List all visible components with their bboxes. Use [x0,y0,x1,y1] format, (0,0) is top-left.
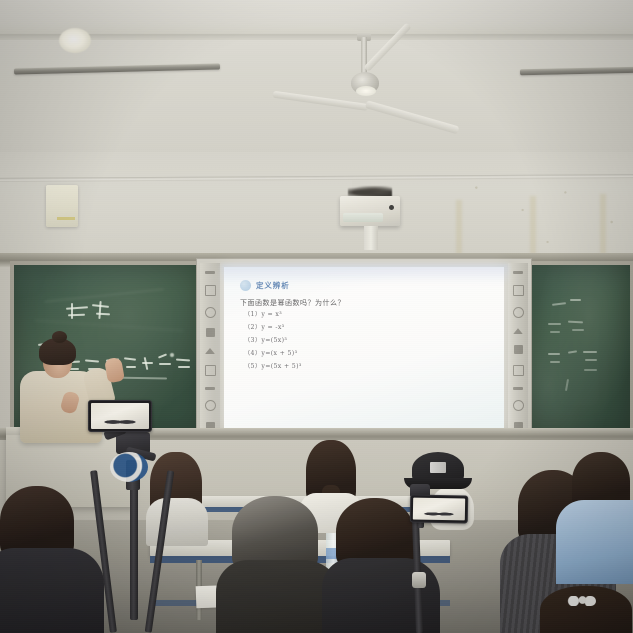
slide-equation-1: （1）y = x³ [244,309,488,318]
wall-stain [530,196,536,254]
select-icon[interactable] [205,365,216,376]
phone-screen [91,403,149,429]
interactive-board-left-controls[interactable] [200,263,220,435]
hair-clip [566,596,596,606]
fan-light-cover [356,86,376,96]
chalkboard-right [524,261,633,441]
teacher-hair-bun [52,331,67,343]
observer-shoulders [0,548,104,633]
menu-icon[interactable] [513,271,523,274]
observer-blue-shirt [556,500,633,584]
settings-icon[interactable] [513,400,524,411]
projection-screen: 定义辨析 下面函数是幂函数吗？为什么？ （1）y = x³ （2）y = -x³… [224,267,504,431]
pen-icon[interactable] [205,285,216,296]
list-item [540,586,632,633]
tripod-logo-badge [110,452,148,482]
wall-speaker-panel [46,185,78,227]
wall-scuff-marks [455,178,633,258]
slide-equation-2: （2）y = -x³ [244,322,488,331]
chalk-dust-haze [528,265,630,437]
select-icon[interactable] [513,365,524,376]
undo-icon[interactable] [513,387,523,390]
shape-icon[interactable] [514,345,523,354]
classroom-photo: 定义辨析 下面函数是幂函数吗？为什么？ （1）y = x³ （2）y = -x³… [0,0,633,633]
pen-icon[interactable] [513,285,524,296]
interactive-board-right-controls[interactable] [508,263,528,435]
interactive-whiteboard[interactable]: 定义辨析 下面函数是幂函数吗？为什么？ （1）y = x³ （2）y = -x³… [196,258,532,440]
projector-lower-mount [364,226,378,250]
wall-stain [456,200,462,255]
tripod-leg[interactable] [130,470,138,620]
pointer-icon[interactable] [205,348,215,354]
projector-lens [343,213,383,222]
observer-shoulders [146,498,208,546]
phone-screen [413,498,465,521]
smartphone-recording[interactable] [410,494,468,523]
eraser-icon[interactable] [513,307,524,318]
menu-icon[interactable] [205,271,215,274]
eraser-icon[interactable] [205,307,216,318]
smartphone-recording[interactable] [88,400,152,432]
shape-icon[interactable] [206,328,215,337]
list-item [232,496,318,570]
presentation-slide: 定义辨析 下面函数是幂函数吗？为什么？ （1）y = x³ （2）y = -x³… [224,267,504,431]
slide-question: 下面函数是幂函数吗？为什么？ [240,298,488,308]
cap-logo [430,462,446,473]
pointer-icon[interactable] [513,328,523,334]
settings-icon[interactable] [205,400,216,411]
undo-icon[interactable] [205,387,215,390]
projector-beam-glow [221,264,509,284]
tripod-label-tag [412,572,426,588]
recessed-downlight-icon [59,28,91,53]
wall-stain [600,194,606,254]
slide-equation-5: （5）y=(5x + 5)³ [244,361,488,370]
slide-equation-4: （4）y=(x + 5)³ [244,348,488,357]
slide-equation-3: （3）y=(5x)³ [244,335,488,344]
